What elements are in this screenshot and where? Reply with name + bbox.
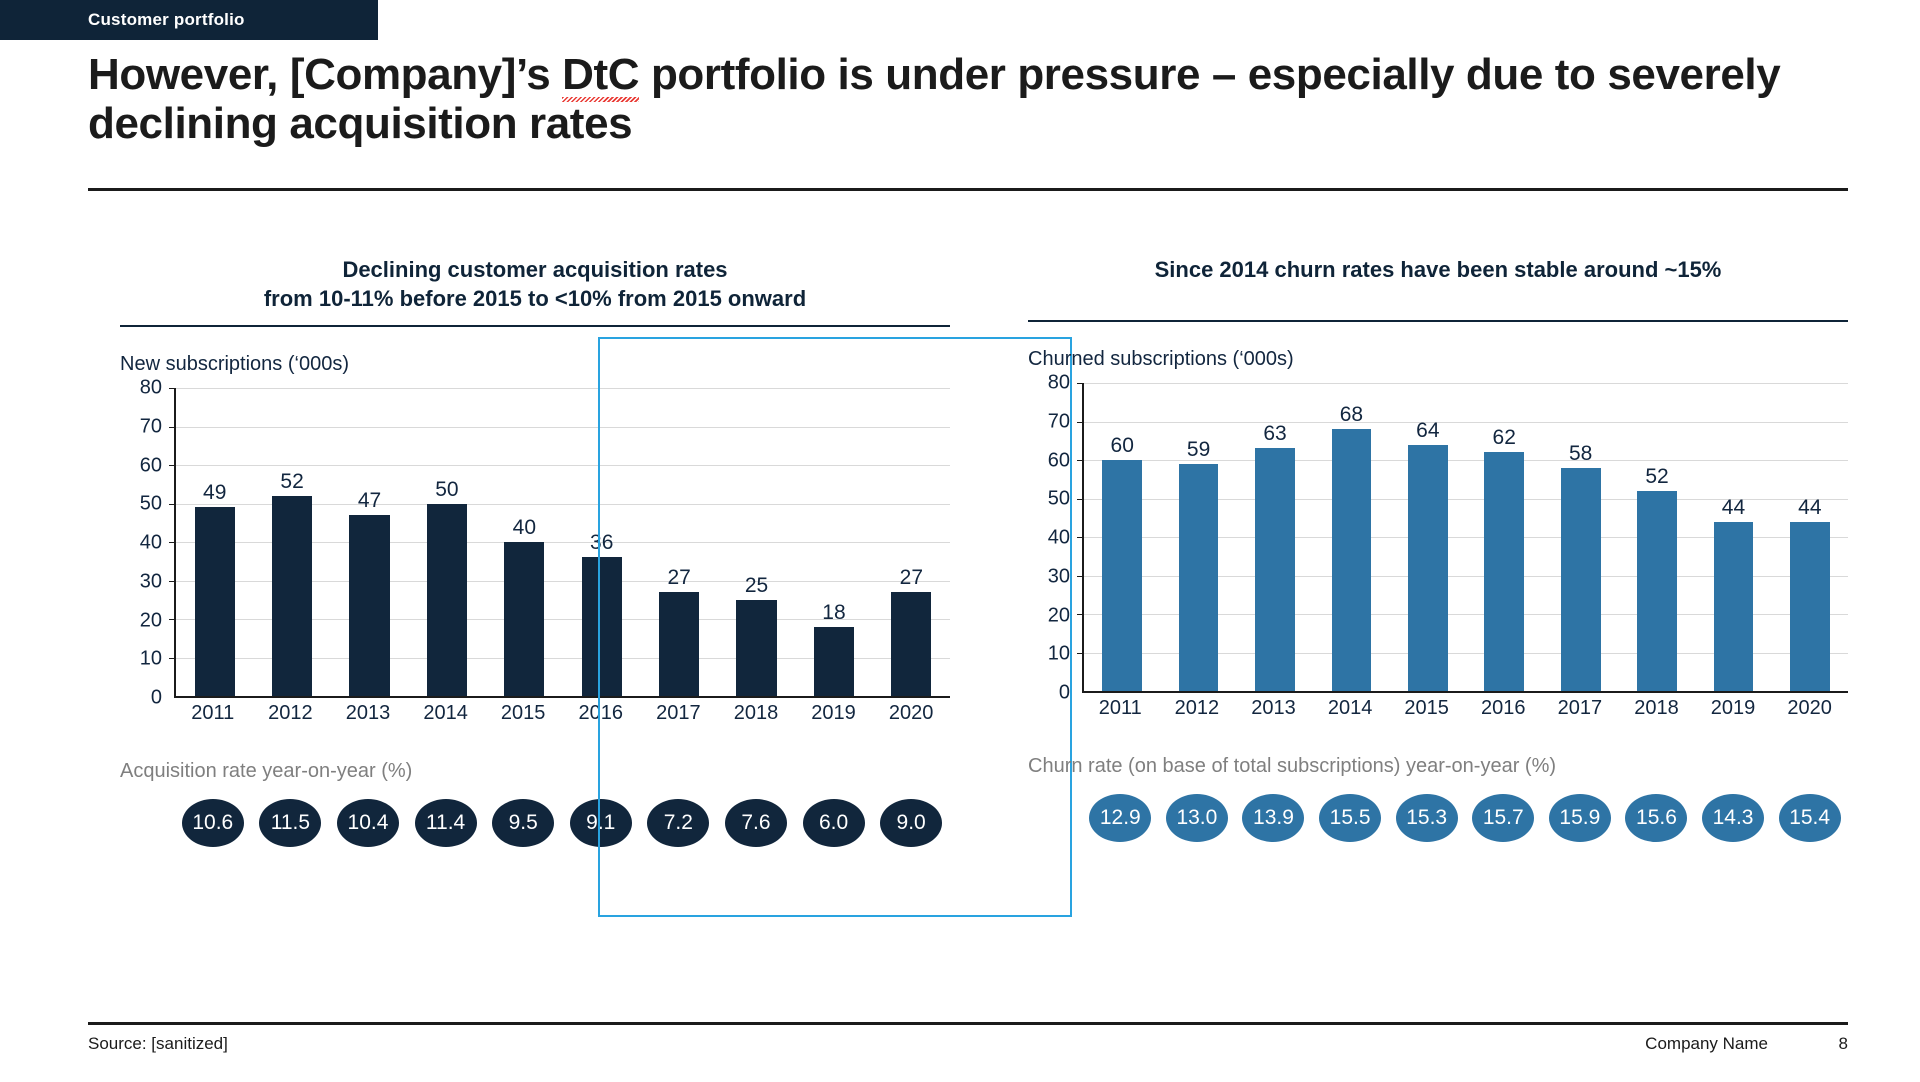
bar-value-label: 40 bbox=[513, 517, 536, 538]
rate-pill-cell: 12.9 bbox=[1082, 794, 1159, 842]
x-axis-tick-label: 2015 bbox=[1388, 697, 1465, 720]
bar-group: 52 bbox=[1619, 383, 1695, 691]
bar-group: 52 bbox=[253, 388, 330, 696]
bar-value-label: 25 bbox=[745, 575, 768, 596]
bar-group: 18 bbox=[795, 388, 872, 696]
y-axis-tick-mark bbox=[169, 658, 176, 659]
rate-pill-cell: 10.4 bbox=[329, 799, 407, 847]
y-axis-tick-mark bbox=[1077, 422, 1084, 423]
rate-pill: 9.1 bbox=[570, 799, 632, 847]
x-axis-tick-label: 2018 bbox=[1618, 697, 1695, 720]
rate-pill: 13.9 bbox=[1242, 794, 1304, 842]
bar-value-label: 36 bbox=[590, 532, 613, 553]
bar-value-label: 52 bbox=[280, 471, 303, 492]
bar-value-label: 60 bbox=[1111, 435, 1134, 456]
bar-value-label: 62 bbox=[1493, 427, 1516, 448]
y-axis-tick-label: 40 bbox=[140, 532, 162, 555]
right-axis-unit: Churned subscriptions (‘000s) bbox=[1028, 348, 1848, 371]
rate-pill-cell: 13.9 bbox=[1235, 794, 1312, 842]
bar[interactable] bbox=[1637, 491, 1677, 691]
x-axis-tick-label: 2020 bbox=[1771, 697, 1848, 720]
bar-group: 64 bbox=[1390, 383, 1466, 691]
bar-value-label: 59 bbox=[1187, 439, 1210, 460]
left-panel-title-line2: from 10-11% before 2015 to <10% from 201… bbox=[120, 284, 950, 313]
bar[interactable] bbox=[349, 515, 389, 696]
bar[interactable] bbox=[1102, 460, 1142, 691]
rate-pill-cell: 15.9 bbox=[1542, 794, 1619, 842]
rate-pill: 15.3 bbox=[1396, 794, 1458, 842]
left-panel-title-line1: Declining customer acquisition rates bbox=[120, 255, 950, 284]
y-axis-tick-label: 50 bbox=[140, 493, 162, 516]
y-axis-tick-label: 60 bbox=[1048, 449, 1070, 472]
rate-pill: 14.3 bbox=[1702, 794, 1764, 842]
rate-pill: 15.6 bbox=[1625, 794, 1687, 842]
bar-group: 25 bbox=[718, 388, 795, 696]
bar[interactable] bbox=[736, 600, 776, 696]
bar[interactable] bbox=[659, 592, 699, 696]
bar-value-label: 44 bbox=[1798, 497, 1821, 518]
bar-value-label: 44 bbox=[1722, 497, 1745, 518]
rate-pill: 11.5 bbox=[259, 799, 321, 847]
rate-pill: 15.7 bbox=[1472, 794, 1534, 842]
right-panel-divider bbox=[1028, 320, 1848, 322]
y-axis-tick-label: 0 bbox=[1059, 682, 1070, 705]
y-axis-tick-label: 70 bbox=[140, 415, 162, 438]
left-y-axis: 01020304050607080 bbox=[120, 388, 166, 698]
footer-page-number: 8 bbox=[1830, 1034, 1848, 1054]
y-axis-tick-mark bbox=[1077, 653, 1084, 654]
right-panel-title: Since 2014 churn rates have been stable … bbox=[1028, 255, 1848, 284]
bar[interactable] bbox=[1561, 468, 1601, 691]
bar-group: 40 bbox=[486, 388, 563, 696]
bar-group: 44 bbox=[1772, 383, 1848, 691]
rate-pill-cell: 6.0 bbox=[795, 799, 873, 847]
right-panel-title-line1: Since 2014 churn rates have been stable … bbox=[1028, 255, 1848, 284]
y-axis-tick-mark bbox=[1077, 576, 1084, 577]
rate-pill-cell: 15.7 bbox=[1465, 794, 1542, 842]
right-rate-caption: Churn rate (on base of total subscriptio… bbox=[1028, 755, 1848, 778]
right-x-axis-labels: 2011201220132014201520162017201820192020 bbox=[1082, 697, 1848, 720]
rate-pill: 7.6 bbox=[725, 799, 787, 847]
bar-group: 68 bbox=[1313, 383, 1389, 691]
rate-pill-cell: 7.2 bbox=[640, 799, 718, 847]
rate-pill: 7.2 bbox=[647, 799, 709, 847]
bar[interactable] bbox=[1255, 448, 1295, 691]
y-axis-tick-label: 50 bbox=[1048, 488, 1070, 511]
left-plot-area: 49524750403627251827 bbox=[174, 388, 950, 698]
rate-pill: 12.9 bbox=[1089, 794, 1151, 842]
left-bars: 49524750403627251827 bbox=[176, 388, 950, 696]
footer-divider bbox=[88, 1022, 1848, 1025]
right-panel: Since 2014 churn rates have been stable … bbox=[1028, 255, 1848, 842]
left-x-axis-labels: 2011201220132014201520162017201820192020 bbox=[174, 702, 950, 725]
y-axis-tick-label: 70 bbox=[1048, 410, 1070, 433]
left-axis-unit: New subscriptions (‘000s) bbox=[120, 353, 950, 376]
y-axis-tick-label: 20 bbox=[140, 609, 162, 632]
bar-group: 49 bbox=[176, 388, 253, 696]
bar-value-label: 64 bbox=[1416, 420, 1439, 441]
bar[interactable] bbox=[427, 504, 467, 697]
bar[interactable] bbox=[195, 507, 235, 696]
bar[interactable] bbox=[272, 496, 312, 696]
spellcheck-underline-word: DtC bbox=[562, 50, 639, 99]
left-panel-divider bbox=[120, 325, 950, 327]
rate-pill-cell: 15.6 bbox=[1618, 794, 1695, 842]
footer-company: Company Name bbox=[1645, 1034, 1768, 1054]
rate-pill: 9.0 bbox=[880, 799, 942, 847]
rate-pill: 15.4 bbox=[1779, 794, 1841, 842]
footer: Source: [sanitized] Company Name 8 bbox=[88, 1034, 1848, 1054]
y-axis-tick-mark bbox=[169, 427, 176, 428]
y-axis-tick-mark bbox=[169, 542, 176, 543]
bar-value-label: 52 bbox=[1645, 466, 1668, 487]
right-rate-pills: 12.913.013.915.515.315.715.915.614.315.4 bbox=[1082, 794, 1848, 842]
bar-group: 36 bbox=[563, 388, 640, 696]
rate-pill-cell: 10.6 bbox=[174, 799, 252, 847]
x-axis-tick-label: 2014 bbox=[1312, 697, 1389, 720]
rate-pill: 10.4 bbox=[337, 799, 399, 847]
left-rate-caption: Acquisition rate year-on-year (%) bbox=[120, 760, 950, 783]
bar-value-label: 49 bbox=[203, 482, 226, 503]
y-axis-tick-mark bbox=[1077, 460, 1084, 461]
rate-pill-cell: 15.5 bbox=[1312, 794, 1389, 842]
rate-pill-cell: 9.1 bbox=[562, 799, 640, 847]
bar-value-label: 58 bbox=[1569, 443, 1592, 464]
left-panel-title: Declining customer acquisition rates fro… bbox=[120, 255, 950, 313]
bar-value-label: 27 bbox=[900, 567, 923, 588]
bar-group: 60 bbox=[1084, 383, 1160, 691]
x-axis-tick-label: 2013 bbox=[1235, 697, 1312, 720]
y-axis-tick-label: 20 bbox=[1048, 604, 1070, 627]
rate-pill-cell: 11.5 bbox=[252, 799, 330, 847]
bar-group: 44 bbox=[1695, 383, 1771, 691]
section-tag: Customer portfolio bbox=[0, 0, 378, 40]
bar-value-label: 47 bbox=[358, 490, 381, 511]
rate-pill: 13.0 bbox=[1166, 794, 1228, 842]
x-axis-tick-label: 2017 bbox=[640, 702, 718, 725]
rate-pill: 10.6 bbox=[182, 799, 244, 847]
x-axis-tick-label: 2012 bbox=[1159, 697, 1236, 720]
y-axis-tick-label: 80 bbox=[1048, 372, 1070, 395]
y-axis-tick-mark bbox=[169, 581, 176, 582]
bar[interactable] bbox=[814, 627, 854, 696]
y-axis-tick-mark bbox=[1077, 499, 1084, 500]
rate-pill: 15.5 bbox=[1319, 794, 1381, 842]
rate-pill: 6.0 bbox=[803, 799, 865, 847]
bar[interactable] bbox=[504, 542, 544, 696]
y-axis-tick-label: 10 bbox=[140, 648, 162, 671]
title-divider bbox=[88, 188, 1848, 191]
bar[interactable] bbox=[1790, 522, 1830, 691]
rate-pill-cell: 9.0 bbox=[872, 799, 950, 847]
rate-pill: 9.5 bbox=[492, 799, 554, 847]
bar[interactable] bbox=[1179, 464, 1219, 691]
bar[interactable] bbox=[1714, 522, 1754, 691]
rate-pill: 15.9 bbox=[1549, 794, 1611, 842]
bar-value-label: 68 bbox=[1340, 404, 1363, 425]
rate-pill: 11.4 bbox=[415, 799, 477, 847]
x-axis-tick-label: 2011 bbox=[1082, 697, 1159, 720]
bar-group: 27 bbox=[640, 388, 717, 696]
x-axis-tick-label: 2017 bbox=[1542, 697, 1619, 720]
bar[interactable] bbox=[1408, 445, 1448, 691]
rate-pill-cell: 14.3 bbox=[1695, 794, 1772, 842]
y-axis-tick-label: 60 bbox=[140, 454, 162, 477]
y-axis-tick-label: 30 bbox=[1048, 565, 1070, 588]
bar[interactable] bbox=[1484, 452, 1524, 691]
bar[interactable] bbox=[891, 592, 931, 696]
y-axis-tick-mark bbox=[169, 504, 176, 505]
footer-source: Source: [sanitized] bbox=[88, 1034, 1645, 1054]
section-tag-label: Customer portfolio bbox=[88, 10, 245, 30]
x-axis-tick-label: 2013 bbox=[329, 702, 407, 725]
bar-value-label: 50 bbox=[435, 479, 458, 500]
rate-pill-cell: 15.4 bbox=[1771, 794, 1848, 842]
rate-pill-cell: 15.3 bbox=[1388, 794, 1465, 842]
y-axis-tick-label: 30 bbox=[140, 570, 162, 593]
bar-group: 63 bbox=[1237, 383, 1313, 691]
bar-value-label: 18 bbox=[822, 602, 845, 623]
x-axis-tick-label: 2020 bbox=[872, 702, 950, 725]
right-bars: 60596368646258524444 bbox=[1084, 383, 1848, 691]
bar-value-label: 27 bbox=[667, 567, 690, 588]
left-panel: Declining customer acquisition rates fro… bbox=[120, 255, 950, 847]
left-rate-pills: 10.611.510.411.49.59.17.27.66.09.0 bbox=[174, 799, 950, 847]
x-axis-tick-label: 2018 bbox=[717, 702, 795, 725]
x-axis-tick-label: 2016 bbox=[1465, 697, 1542, 720]
right-plot-area: 60596368646258524444 bbox=[1082, 383, 1848, 693]
x-axis-tick-label: 2014 bbox=[407, 702, 485, 725]
right-y-axis: 01020304050607080 bbox=[1028, 383, 1074, 693]
bar[interactable] bbox=[582, 557, 622, 696]
bar-group: 50 bbox=[408, 388, 485, 696]
bar-value-label: 63 bbox=[1263, 423, 1286, 444]
bar-group: 62 bbox=[1466, 383, 1542, 691]
y-axis-tick-mark bbox=[1077, 383, 1084, 384]
y-axis-tick-mark bbox=[169, 465, 176, 466]
y-axis-tick-mark bbox=[1077, 614, 1084, 615]
x-axis-tick-label: 2019 bbox=[795, 702, 873, 725]
y-axis-tick-label: 80 bbox=[140, 377, 162, 400]
x-axis-tick-label: 2016 bbox=[562, 702, 640, 725]
rate-pill-cell: 9.5 bbox=[484, 799, 562, 847]
bar-group: 47 bbox=[331, 388, 408, 696]
left-chart: 01020304050607080 49524750403627251827 2… bbox=[120, 388, 950, 698]
bar-group: 59 bbox=[1160, 383, 1236, 691]
y-axis-tick-mark bbox=[169, 619, 176, 620]
right-chart: 01020304050607080 60596368646258524444 2… bbox=[1028, 383, 1848, 693]
x-axis-tick-label: 2015 bbox=[484, 702, 562, 725]
bar[interactable] bbox=[1332, 429, 1372, 691]
rate-pill-cell: 11.4 bbox=[407, 799, 485, 847]
y-axis-tick-mark bbox=[169, 388, 176, 389]
bar-group: 58 bbox=[1542, 383, 1618, 691]
x-axis-tick-label: 2019 bbox=[1695, 697, 1772, 720]
rate-pill-cell: 13.0 bbox=[1159, 794, 1236, 842]
page-title-part1: However, [Company]’s bbox=[88, 50, 562, 99]
bar-group: 27 bbox=[873, 388, 950, 696]
x-axis-tick-label: 2011 bbox=[174, 702, 252, 725]
y-axis-tick-label: 0 bbox=[151, 687, 162, 710]
x-axis-tick-label: 2012 bbox=[252, 702, 330, 725]
y-axis-tick-mark bbox=[1077, 537, 1084, 538]
y-axis-tick-label: 40 bbox=[1048, 527, 1070, 550]
page-title: However, [Company]’s DtC portfolio is un… bbox=[88, 50, 1848, 149]
y-axis-tick-label: 10 bbox=[1048, 643, 1070, 666]
slide: Customer portfolio However, [Company]’s … bbox=[0, 0, 1920, 1082]
rate-pill-cell: 7.6 bbox=[717, 799, 795, 847]
